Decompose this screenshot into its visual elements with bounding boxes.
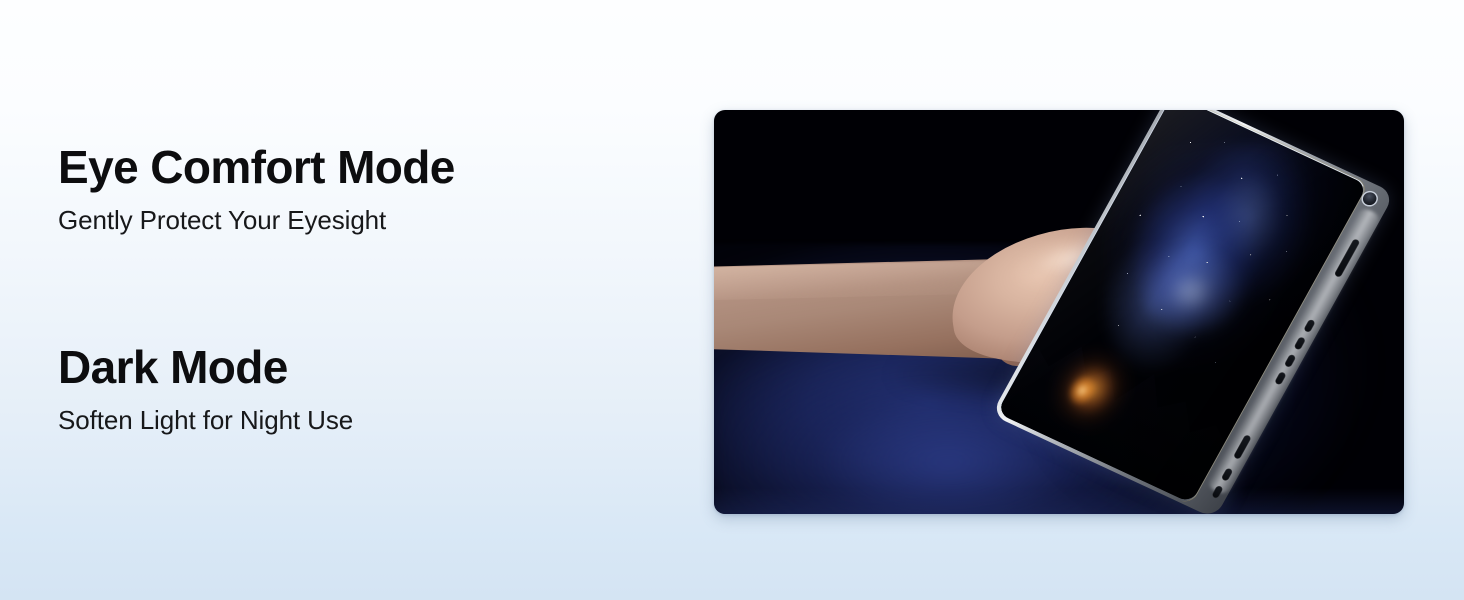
product-image-panel	[714, 110, 1404, 514]
feature-block-eye-comfort-mode: Eye Comfort Mode Gently Protect Your Eye…	[58, 142, 455, 236]
feature-block-dark-mode: Dark Mode Soften Light for Night Use	[58, 342, 353, 436]
feature-title: Dark Mode	[58, 342, 353, 394]
feature-subtitle: Soften Light for Night Use	[58, 405, 353, 436]
feature-title: Eye Comfort Mode	[58, 142, 455, 194]
feature-subtitle: Gently Protect Your Eyesight	[58, 205, 455, 236]
feature-text-column: Eye Comfort Mode Gently Protect Your Eye…	[0, 0, 700, 600]
